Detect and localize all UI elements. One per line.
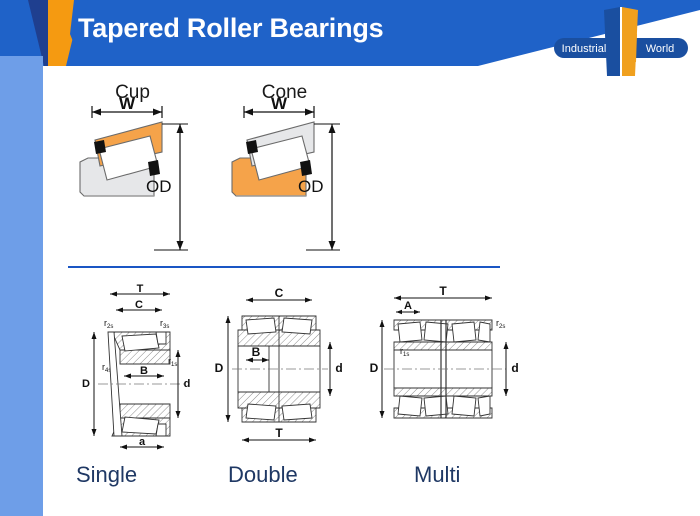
logo-right-label: World (646, 43, 675, 55)
multi-d-inner-arrow-top (504, 342, 509, 349)
double-d-inner-label: d (335, 361, 342, 375)
cone-od-arrow-top (329, 124, 336, 133)
cone-w-arrow-right (305, 109, 314, 116)
double-d-outer-label: D (215, 361, 224, 375)
double-d-outer-arrow-top (226, 316, 231, 323)
single-b-arrow-left (124, 374, 131, 379)
figure-single-caption: Single (76, 462, 137, 488)
multi-d-inner-arrow-bottom (504, 389, 509, 396)
multi-r2s-label: r2s (496, 318, 505, 330)
single-a-arrow-left (120, 445, 127, 450)
double-d-outer-arrow-bottom (226, 415, 231, 422)
single-cone-top (120, 350, 170, 364)
cone-wedge-left (246, 140, 258, 154)
multi-t-arrow-right (485, 296, 492, 301)
multi-d-outer-arrow-bottom (380, 411, 385, 418)
slide-root: Tapered Roller Bearings Industrial World (0, 0, 700, 516)
single-cage-bottom (156, 424, 166, 436)
single-d-arrow-bottom (92, 429, 97, 436)
single-t-label: T (137, 283, 144, 295)
cup-od-arrow-bottom (177, 241, 184, 250)
single-c-label: C (135, 299, 143, 311)
page-title: Tapered Roller Bearings (78, 13, 384, 44)
multi-roller-top-3 (452, 322, 476, 342)
single-cone-bottom (120, 404, 170, 418)
logo-split-line (620, 7, 622, 76)
single-d-arrow-top (92, 332, 97, 339)
multi-roller-bottom-3 (452, 396, 476, 416)
single-a-arrow-right (157, 445, 164, 450)
cup-wedge-left (94, 140, 106, 154)
cone-od-arrow-bottom (329, 241, 336, 250)
multi-t-label: T (439, 284, 447, 298)
figure-single: T C r2s r3s r4s r1s (64, 284, 194, 454)
cone-w-arrow-left (244, 109, 253, 116)
multi-a-label: A (404, 300, 412, 312)
multi-cone-bottom (394, 388, 492, 396)
figure-cup: W OD (70, 100, 195, 260)
logo-cross-blue-over (605, 34, 620, 62)
cone-wedge-right (300, 160, 312, 176)
multi-roller-top-2 (424, 322, 448, 342)
logo-cross-orange-over (622, 34, 637, 62)
cup-wedge-right (148, 160, 160, 176)
brand-logo: Industrial World (548, 4, 694, 80)
multi-d-outer-arrow-top (380, 320, 385, 327)
single-b-arrow-right (157, 374, 164, 379)
single-t-arrow-right (163, 292, 170, 297)
single-c-arrow-left (116, 308, 123, 313)
single-d-inner-label: d (184, 378, 191, 390)
double-roller-top-left (246, 318, 276, 334)
cup-od-arrow-top (177, 124, 184, 133)
multi-roller-bottom-1 (398, 396, 422, 416)
multi-roller-top-1 (398, 322, 422, 342)
single-t-arrow-left (110, 292, 117, 297)
single-r3s-label: r3s (160, 318, 169, 330)
single-roller-top (122, 334, 159, 351)
double-roller-top-right (282, 318, 312, 334)
figure-cone: W OD (222, 100, 347, 260)
single-d-inner-arrow-bottom (176, 411, 181, 418)
multi-t-arrow-left (394, 296, 401, 301)
figure-double-caption: Double (228, 462, 298, 488)
multi-d-outer-label: D (370, 361, 379, 375)
double-d-inner-arrow-bottom (328, 389, 333, 396)
cup-w-arrow-right (153, 109, 162, 116)
multi-roller-bottom-4 (478, 396, 490, 416)
figure-multi-caption: Multi (414, 462, 460, 488)
single-r2s-label: r2s (104, 318, 113, 330)
cone-od-label: OD (298, 177, 324, 196)
left-accent-rail (0, 56, 43, 516)
double-c-arrow-right (305, 298, 312, 303)
double-roller-bottom-left (246, 404, 276, 420)
double-d-inner-arrow-top (328, 342, 333, 349)
double-c-label: C (275, 286, 284, 300)
double-t-arrow-right (309, 438, 316, 443)
multi-cone-top (394, 342, 492, 350)
double-t-label: T (275, 426, 283, 440)
single-cage-top (156, 332, 166, 344)
single-d-inner-arrow-top (176, 350, 181, 357)
single-a-label: a (139, 436, 146, 448)
double-c-arrow-left (246, 298, 253, 303)
multi-a-arrow-left (396, 310, 402, 314)
single-roller-bottom (122, 417, 159, 434)
multi-roller-top-4 (478, 322, 490, 342)
figure-double: C B (206, 284, 346, 454)
single-c-arrow-right (155, 308, 162, 313)
figure-cup-caption: Cup (70, 82, 195, 104)
single-b-label: B (140, 365, 148, 377)
double-t-arrow-left (242, 438, 249, 443)
double-roller-bottom-right (282, 404, 312, 420)
multi-roller-bottom-2 (424, 396, 448, 416)
single-d-outer-label: D (82, 378, 90, 390)
cup-w-arrow-left (92, 109, 101, 116)
double-b-label: B (252, 345, 261, 359)
figure-multi: T A r2s r1s (366, 284, 526, 454)
multi-d-inner-label: d (511, 361, 518, 375)
logo-left-label: Industrial (562, 43, 607, 55)
multi-a-arrow-right (414, 310, 420, 314)
cup-od-label: OD (146, 177, 172, 196)
section-divider (68, 266, 500, 268)
double-b-arrow-right (262, 358, 269, 363)
figure-cone-caption: Cone (222, 82, 347, 104)
